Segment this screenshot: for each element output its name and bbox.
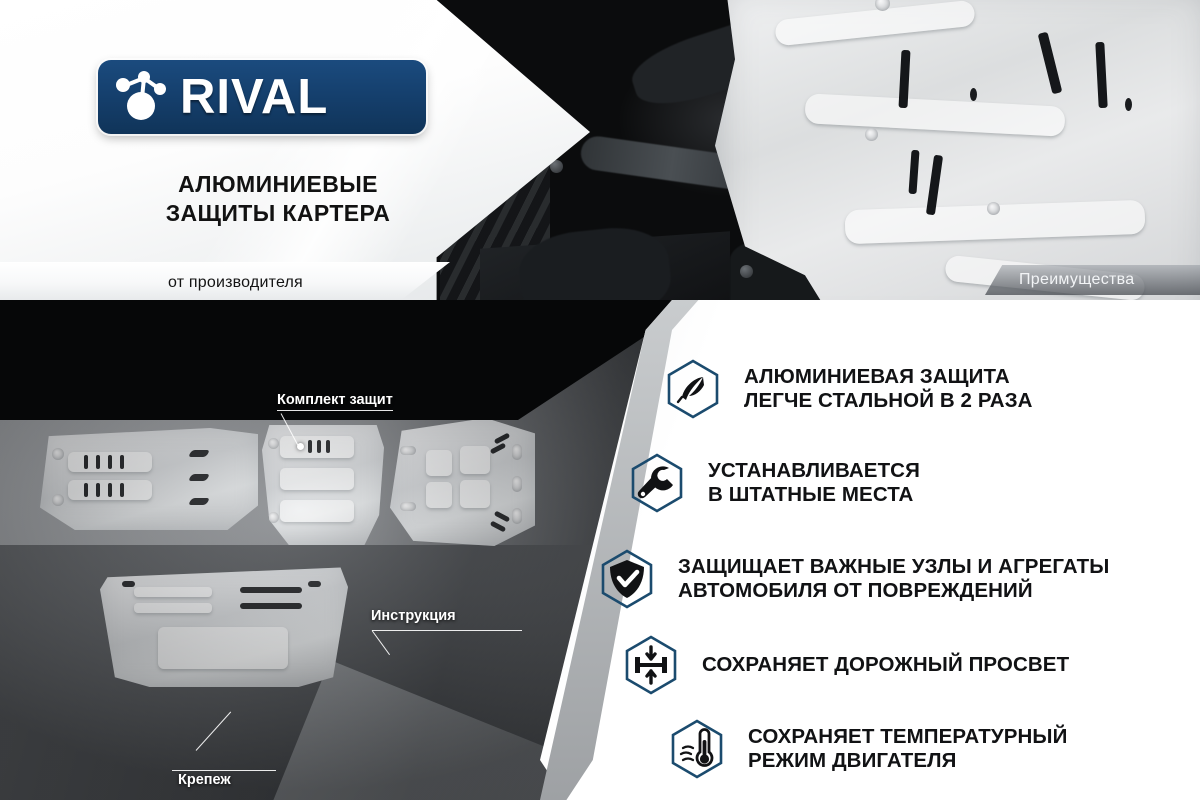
advantage-item-temperature: СОХРАНЯЕТ ТЕМПЕРАТУРНЫЙ РЕЖИМ ДВИГАТЕЛЯ [666, 718, 1067, 780]
advantage-protection-line2: АВТОМОБИЛЯ ОТ ПОВРЕЖДЕНИЙ [678, 579, 1109, 603]
callout-kit: Комплект защит [277, 392, 393, 411]
advantage-protection-line1: ЗАЩИЩАЕТ ВАЖНЫЕ УЗЛЫ И АГРЕГАТЫ [678, 555, 1109, 578]
advantage-fitment-line1: УСТАНАВЛИВАЕТСЯ [708, 459, 920, 482]
page-title-line1: АЛЮМИНИЕВЫЕ [98, 170, 458, 199]
manufacturer-label: от производителя [168, 274, 303, 292]
advantage-item-fitment: УСТАНАВЛИВАЕТСЯ В ШТАТНЫЕ МЕСТА [626, 452, 920, 514]
poster-root: Комплект защит Крепеж Инструкция [0, 0, 1200, 800]
advantage-temperature-line1: СОХРАНЯЕТ ТЕМПЕРАТУРНЫЙ [748, 725, 1067, 748]
feather-icon [662, 358, 724, 420]
advantage-text-protection: ЗАЩИЩАЕТ ВАЖНЫЕ УЗЛЫ И АГРЕГАТЫ АВТОМОБИ… [678, 555, 1109, 603]
bolt-icon [740, 265, 753, 278]
advantage-item-clearance: СОХРАНЯЕТ ДОРОЖНЫЙ ПРОСВЕТ [620, 634, 1069, 696]
callout-underline-hardware [172, 770, 276, 771]
rival-logo: RIVAL [98, 60, 426, 134]
page-title-line2: ЗАЩИТЫ КАРТЕРА [98, 199, 458, 228]
page-title: АЛЮМИНИЕВЫЕ ЗАЩИТЫ КАРТЕРА [98, 170, 458, 229]
advantage-weight-line1: АЛЮМИНИЕВАЯ ЗАЩИТА [744, 365, 1010, 388]
advantage-text-clearance: СОХРАНЯЕТ ДОРОЖНЫЙ ПРОСВЕТ [702, 653, 1069, 677]
advantage-weight-line2: ЛЕГЧЕ СТАЛЬНОЙ В 2 РАЗА [744, 389, 1033, 413]
advantage-text-temperature: СОХРАНЯЕТ ТЕМПЕРАТУРНЫЙ РЕЖИМ ДВИГАТЕЛЯ [748, 725, 1067, 773]
advantages-tab-label: Преимущества [1019, 271, 1134, 289]
advantage-text-fitment: УСТАНАВЛИВАЕТСЯ В ШТАТНЫЕ МЕСТА [708, 459, 920, 507]
advantage-temperature-line2: РЕЖИМ ДВИГАТЕЛЯ [748, 749, 1067, 773]
thermometer-icon [666, 718, 728, 780]
ground-clearance-icon [620, 634, 682, 696]
manufacturer-bar: от производителя [0, 262, 450, 304]
molecule-icon [114, 68, 176, 126]
rival-logo-text: RIVAL [180, 73, 328, 122]
advantages-tab: Преимущества [985, 265, 1200, 295]
shield-check-icon [596, 548, 658, 610]
callout-manual-label: Инструкция [371, 608, 456, 624]
advantage-clearance-line1: СОХРАНЯЕТ ДОРОЖНЫЙ ПРОСВЕТ [702, 653, 1069, 676]
advantage-fitment-line2: В ШТАТНЫЕ МЕСТА [708, 483, 920, 507]
callout-hardware: Крепеж [178, 772, 231, 788]
advantage-text-weight: АЛЮМИНИЕВАЯ ЗАЩИТА ЛЕГЧЕ СТАЛЬНОЙ В 2 РА… [744, 365, 1033, 413]
callout-hardware-label: Крепеж [178, 772, 231, 788]
wrench-icon [626, 452, 688, 514]
callout-kit-label: Комплект защит [277, 392, 393, 408]
advantage-item-protection: ЗАЩИЩАЕТ ВАЖНЫЕ УЗЛЫ И АГРЕГАТЫ АВТОМОБИ… [596, 548, 1109, 610]
advantage-item-weight: АЛЮМИНИЕВАЯ ЗАЩИТА ЛЕГЧЕ СТАЛЬНОЙ В 2 РА… [662, 358, 1033, 420]
callout-manual: Инструкция [371, 608, 456, 624]
callout-underline-manual [372, 630, 522, 631]
